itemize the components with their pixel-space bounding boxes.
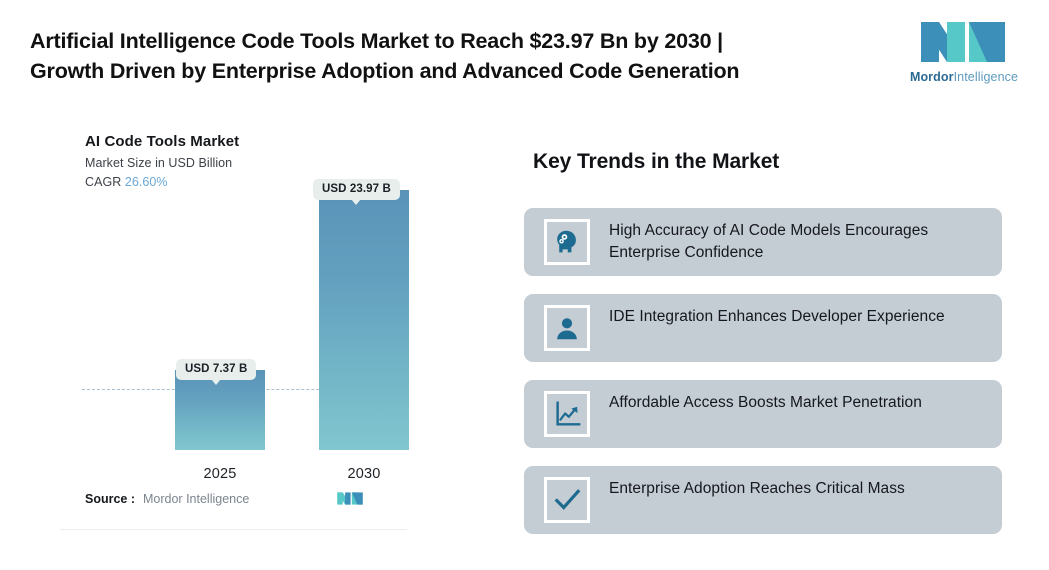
x-axis-label-2025: 2025	[165, 466, 275, 482]
brand-name-bold: Mordor	[910, 70, 954, 84]
brand-logo: MordorIntelligence	[903, 18, 1025, 90]
trend-card-text: Affordable Access Boosts Market Penetrat…	[609, 392, 984, 414]
headline-line-1: Artificial Intelligence Code Tools Marke…	[30, 29, 723, 53]
page-header: Artificial Intelligence Code Tools Marke…	[0, 0, 1049, 110]
head-with-gears-icon	[544, 219, 590, 265]
source-label: Source :	[85, 492, 135, 506]
trend-card-list: High Accuracy of AI Code Models Encourag…	[524, 208, 1002, 552]
chart-title: AI Code Tools Market	[85, 133, 239, 150]
chart-subtitle: Market Size in USD Billion	[85, 156, 232, 170]
brand-logo-wordmark: MordorIntelligence	[903, 70, 1025, 84]
trend-card-text: Enterprise Adoption Reaches Critical Mas…	[609, 478, 984, 500]
bar-label-2025: USD 7.37 B	[176, 359, 256, 380]
trend-card-text: High Accuracy of AI Code Models Encourag…	[609, 220, 984, 264]
headline-line-2: Growth Driven by Enterprise Adoption and…	[30, 56, 875, 86]
trend-card[interactable]: High Accuracy of AI Code Models Encourag…	[524, 208, 1002, 276]
bar-chart-plot: USD 7.37 B USD 23.97 B 2025 2030	[60, 196, 407, 506]
trend-card[interactable]: IDE Integration Enhances Developer Exper…	[524, 294, 1002, 362]
source-value: Mordor Intelligence	[143, 492, 249, 506]
cagr-label: CAGR	[85, 175, 121, 189]
checkmark-icon	[544, 477, 590, 523]
cagr-value: 26.60%	[125, 175, 168, 189]
trend-card[interactable]: Affordable Access Boosts Market Penetrat…	[524, 380, 1002, 448]
mordor-m-logo-icon	[336, 490, 364, 507]
brand-name-light: Intelligence	[954, 70, 1018, 84]
bar-label-2030: USD 23.97 B	[313, 179, 400, 200]
panel-divider	[60, 529, 407, 530]
person-icon	[544, 305, 590, 351]
chart-cagr: CAGR 26.60%	[85, 175, 168, 189]
key-trends-heading: Key Trends in the Market	[533, 150, 779, 174]
trend-card[interactable]: Enterprise Adoption Reaches Critical Mas…	[524, 466, 1002, 534]
mordor-m-logo-icon	[917, 18, 1009, 66]
chart-source-row: Source : Mordor Intelligence	[85, 490, 385, 512]
line-chart-up-icon	[544, 391, 590, 437]
x-axis-label-2030: 2030	[309, 466, 419, 482]
trend-card-text: IDE Integration Enhances Developer Exper…	[609, 306, 984, 328]
chart-panel: AI Code Tools Market Market Size in USD …	[60, 118, 407, 530]
bar-2030	[319, 190, 409, 450]
page-title: Artificial Intelligence Code Tools Marke…	[30, 26, 875, 86]
